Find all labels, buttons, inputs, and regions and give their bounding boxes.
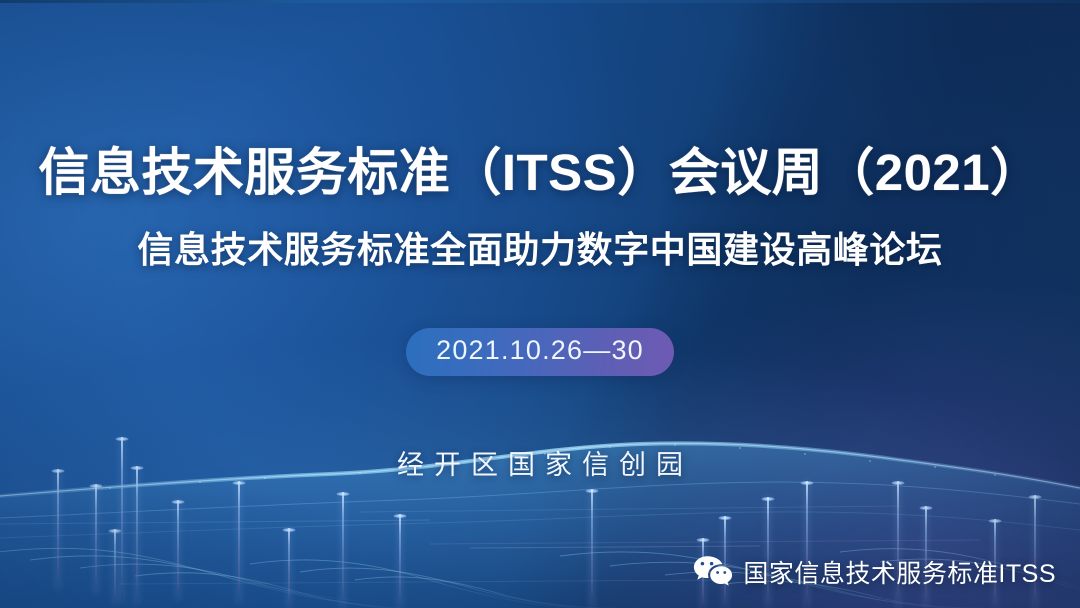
event-date-container: 2021.10.26—30 <box>0 328 1080 376</box>
event-date-badge: 2021.10.26—30 <box>406 328 674 376</box>
page-title: 信息技术服务标准（ITSS）会议周（2021） <box>0 143 1080 203</box>
wechat-watermark: 国家信息技术服务标准ITSS <box>693 554 1056 590</box>
wechat-icon <box>693 555 733 589</box>
wechat-account-name: 国家信息技术服务标准ITSS <box>743 554 1056 590</box>
page-subtitle: 信息技术服务标准全面助力数字中国建设高峰论坛 <box>0 228 1080 271</box>
poster-content: 信息技术服务标准（ITSS）会议周（2021） 信息技术服务标准全面助力数字中国… <box>0 0 1080 608</box>
event-venue: 经开区国家信创园 <box>0 443 1080 482</box>
conference-poster: 信息技术服务标准（ITSS）会议周（2021） 信息技术服务标准全面助力数字中国… <box>0 0 1080 608</box>
